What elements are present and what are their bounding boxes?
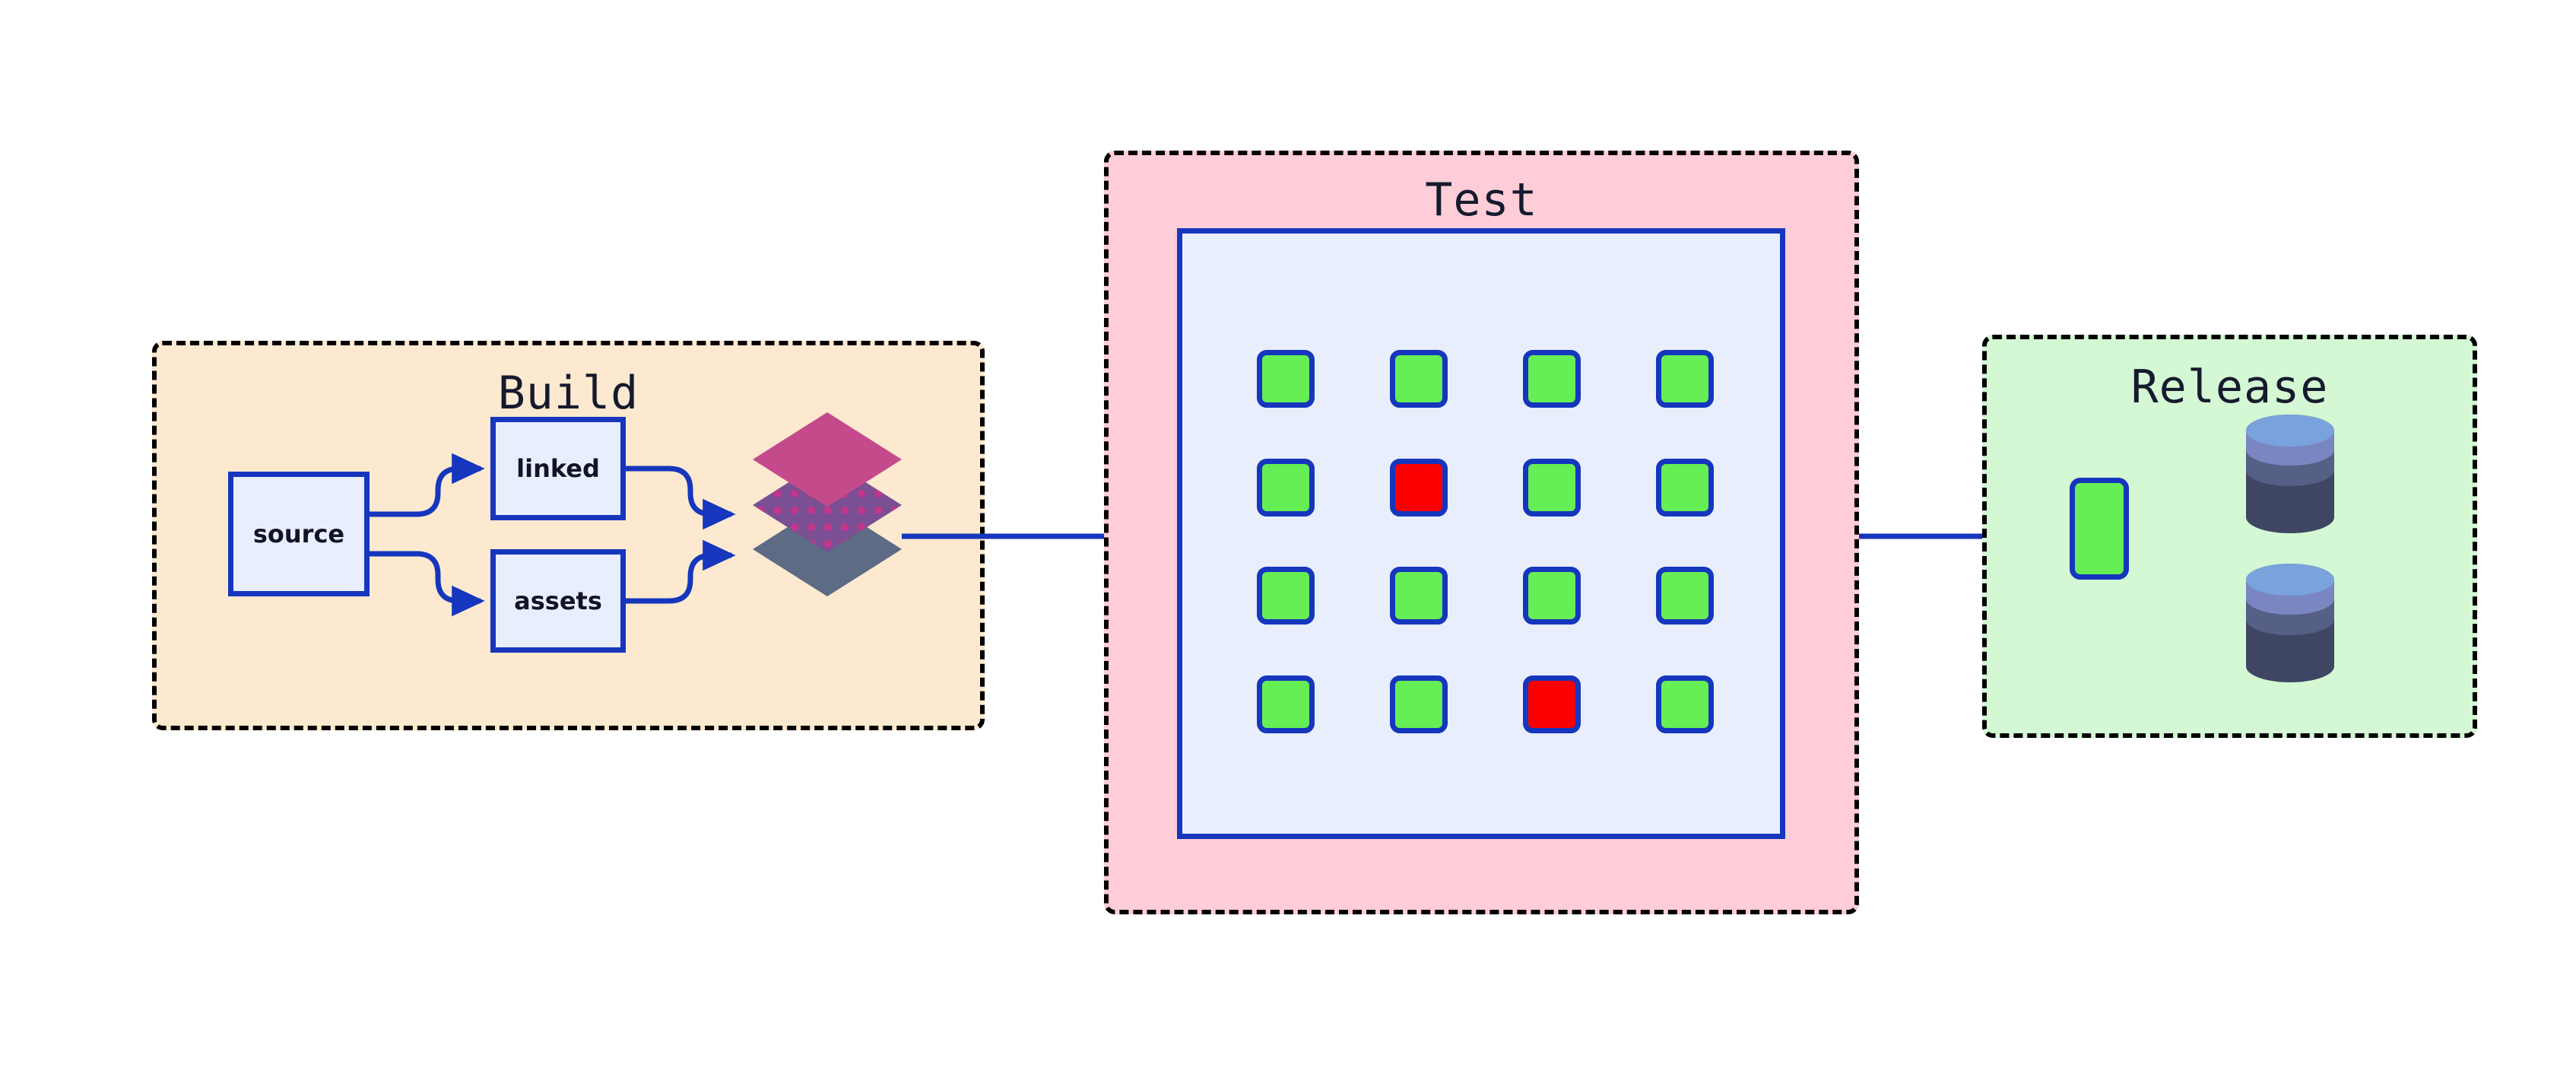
test-cell-slot <box>1352 434 1485 542</box>
node-release-artifact[interactable] <box>2070 478 2129 580</box>
test-cell-slot <box>1485 325 1618 434</box>
test-cell-slot <box>1352 325 1485 434</box>
test-cell-r3-c4[interactable] <box>1656 567 1714 625</box>
test-cell-slot <box>1219 542 1352 650</box>
test-cell-r1-c2[interactable] <box>1390 350 1448 408</box>
test-cell-r1-c4[interactable] <box>1656 350 1714 408</box>
test-cell-slot <box>1618 325 1751 434</box>
stage-release-title: Release <box>1987 361 2473 414</box>
test-cell-r2-c4[interactable] <box>1656 459 1714 517</box>
test-cell-slot <box>1618 434 1751 542</box>
node-linked-label: linked <box>516 454 600 483</box>
test-cell-slot <box>1352 650 1485 759</box>
node-source[interactable]: source <box>228 472 370 596</box>
test-cell-r3-c3[interactable] <box>1523 567 1581 625</box>
node-source-label: source <box>253 520 344 548</box>
test-results-panel <box>1177 228 1785 839</box>
test-cell-slot <box>1485 650 1618 759</box>
node-linked[interactable]: linked <box>490 417 626 520</box>
test-cell-slot <box>1618 542 1751 650</box>
node-assets[interactable]: assets <box>490 549 626 653</box>
test-cell-r2-c3[interactable] <box>1523 459 1581 517</box>
test-cell-r3-c1[interactable] <box>1257 567 1315 625</box>
test-cell-slot <box>1485 434 1618 542</box>
test-cell-slot <box>1352 542 1485 650</box>
node-assets-label: assets <box>514 586 602 615</box>
test-cell-slot <box>1219 325 1352 434</box>
pipeline-diagram: Build source linked assets <box>0 0 2576 1068</box>
test-cell-r2-c2[interactable] <box>1390 459 1448 517</box>
test-cell-r3-c2[interactable] <box>1390 567 1448 625</box>
test-cell-slot <box>1219 434 1352 542</box>
test-cell-r4-c3[interactable] <box>1523 675 1581 733</box>
test-cell-slot <box>1618 650 1751 759</box>
test-results-grid <box>1219 325 1751 758</box>
test-cell-slot <box>1219 650 1352 759</box>
test-cell-r4-c2[interactable] <box>1390 675 1448 733</box>
stage-build-title: Build <box>157 367 980 420</box>
stage-release[interactable]: Release <box>1982 335 2477 738</box>
test-cell-slot <box>1485 542 1618 650</box>
test-cell-r4-c4[interactable] <box>1656 675 1714 733</box>
test-cell-r1-c1[interactable] <box>1257 350 1315 408</box>
test-cell-r4-c1[interactable] <box>1257 675 1315 733</box>
test-cell-r1-c3[interactable] <box>1523 350 1581 408</box>
test-cell-r2-c1[interactable] <box>1257 459 1315 517</box>
stage-test-title: Test <box>1109 173 1854 227</box>
